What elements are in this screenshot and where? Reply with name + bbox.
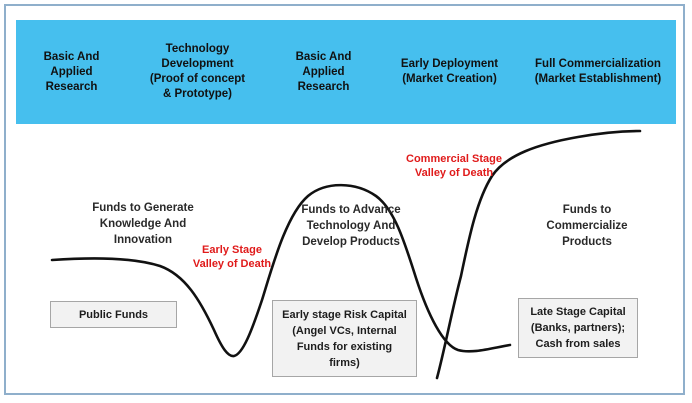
annotation-early-stage-valley-of-death: Early Stage Valley of Death <box>176 243 288 271</box>
annotation-funds-to-advance-technology: Funds to Advance Technology And Develop … <box>281 202 421 250</box>
stage-basic-applied-research-2: Basic And Applied Research <box>268 50 379 95</box>
annotation-commercial-stage-valley-of-death: Commercial Stage Valley of Death <box>382 152 526 180</box>
capital-box-late-stage-capital: Late Stage Capital (Banks, partners); Ca… <box>518 298 638 358</box>
stage-technology-development: Technology Development (Proof of concept… <box>127 42 268 102</box>
stage-banner: Basic And Applied Research Technology De… <box>16 20 676 124</box>
capital-box-public-funds: Public Funds <box>50 301 177 328</box>
diagram-canvas: Basic And Applied Research Technology De… <box>0 0 692 403</box>
stage-early-deployment: Early Deployment (Market Creation) <box>379 57 520 87</box>
stage-basic-applied-research-1: Basic And Applied Research <box>16 50 127 95</box>
annotation-funds-to-generate-knowledge: Funds to Generate Knowledge And Innovati… <box>48 200 238 248</box>
capital-box-early-stage-risk-capital: Early stage Risk Capital (Angel VCs, Int… <box>272 300 417 377</box>
stage-full-commercialization: Full Commercialization (Market Establish… <box>520 57 676 87</box>
annotation-funds-to-commercialize-products: Funds to Commercialize Products <box>520 202 654 250</box>
